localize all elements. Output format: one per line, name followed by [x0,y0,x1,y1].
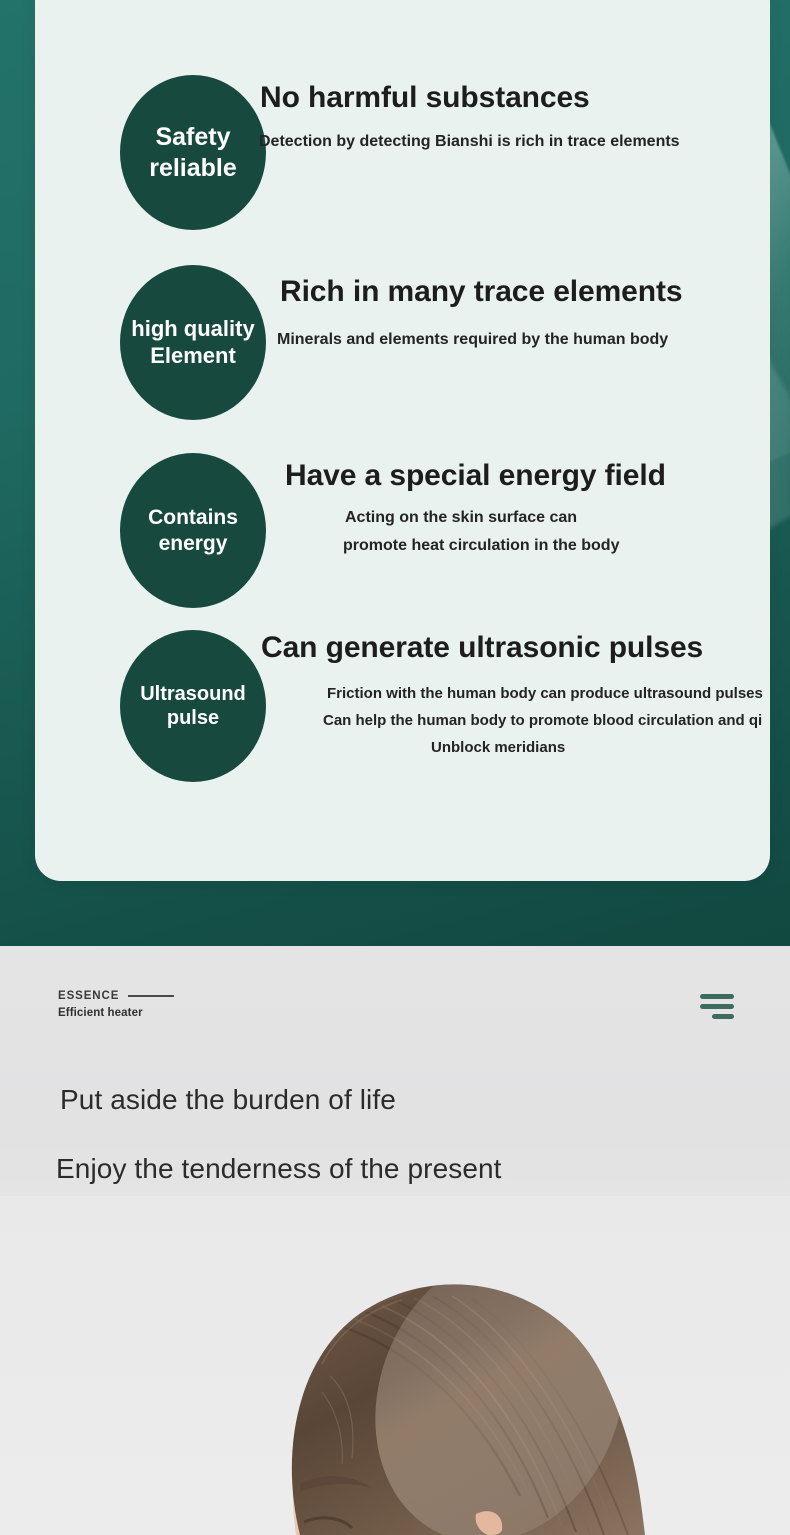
hamburger-menu-icon[interactable] [694,990,734,1022]
menu-bar-3 [712,1014,734,1019]
tagline-line-2: Enjoy the tenderness of the present [56,1155,502,1183]
feature-item: high quality Element Rich in many trace … [35,206,770,391]
feature-text: Have a special energy field Acting on th… [285,459,666,555]
feature-badge: Contains energy [120,453,266,608]
feature-text: Can generate ultrasonic pulses Friction … [261,631,763,756]
feature-badge: Safety reliable [120,75,266,230]
brand-block: ESSENCE Efficient heater [58,990,174,1019]
feature-text: No harmful substances Detection by detec… [260,81,680,151]
feature-item: Ultrasound pulse Can generate ultrasonic… [35,586,770,826]
woman-head-photo [0,1196,790,1535]
brand-divider-line [128,995,174,997]
badge-line-1: Ultrasound [140,682,246,706]
badge-line-2: reliable [149,153,237,184]
feature-subtext: Can help the human body to promote blood… [323,712,763,729]
green-hero-panel: Safety reliable No harmful substances De… [0,0,790,946]
feature-heading: No harmful substances [260,81,680,115]
menu-bar-1 [700,994,734,999]
feature-subtext: promote heat circulation in the body [343,537,666,555]
feature-subtext: Unblock meridians [431,739,763,756]
brand-subtitle: Efficient heater [58,1007,174,1019]
brand-title-row: ESSENCE [58,990,174,1002]
feature-subtext: Minerals and elements required by the hu… [277,331,682,349]
features-card: Safety reliable No harmful substances De… [35,0,770,881]
feature-item: Contains energy Have a special energy fi… [35,391,770,586]
tagline-line-1: Put aside the burden of life [60,1086,502,1114]
feature-badge: Ultrasound pulse [120,630,266,782]
product-detail-page: Safety reliable No harmful substances De… [0,0,790,1535]
badge-line-1: Safety [155,122,230,153]
feature-subtext: Acting on the skin surface can [345,509,666,527]
badge-line-1: Contains [148,505,238,531]
tagline-block: Put aside the burden of life Enjoy the t… [60,1086,502,1183]
lifestyle-section: ESSENCE Efficient heater Put aside the b… [0,946,790,1535]
feature-list: Safety reliable No harmful substances De… [35,0,770,881]
feature-heading: Rich in many trace elements [280,275,682,309]
feature-badge: high quality Element [120,265,266,420]
feature-text: Rich in many trace elements Minerals and… [280,275,682,349]
badge-line-2: pulse [167,706,219,730]
menu-bar-2 [700,1004,734,1009]
feature-subtext: Friction with the human body can produce… [327,685,763,702]
feature-subtext: Detection by detecting Bianshi is rich i… [259,133,680,151]
feature-heading: Have a special energy field [285,459,666,493]
badge-line-2: Element [150,343,236,370]
feature-item: Safety reliable No harmful substances De… [35,0,770,206]
brand-name: ESSENCE [58,990,119,1002]
badge-line-1: high quality [131,316,254,343]
badge-line-2: energy [159,531,228,557]
feature-heading: Can generate ultrasonic pulses [261,631,763,665]
